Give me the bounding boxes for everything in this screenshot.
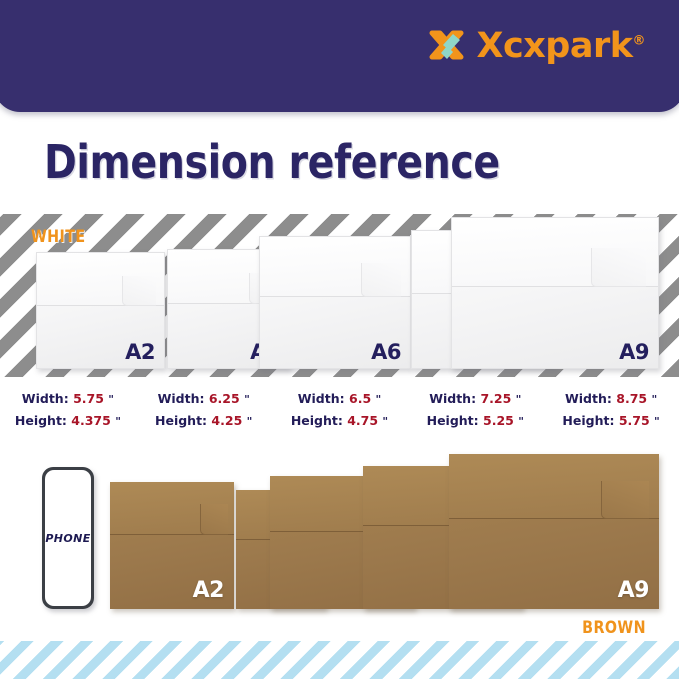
width-line: Width: 8.75 " <box>543 388 679 410</box>
width-label: Width: <box>22 391 69 406</box>
height-unit: " <box>382 415 388 428</box>
width-label: Width: <box>298 391 345 406</box>
phone-label: PHONE <box>45 532 90 545</box>
dimension-cell-a7: Width: 7.25 "Height: 5.25 " <box>407 388 543 432</box>
height-unit: " <box>654 415 660 428</box>
dimension-table: Width: 5.75 "Height: 4.375 "Width: 6.25 … <box>0 388 679 432</box>
height-value: 4.375 <box>71 413 111 428</box>
height-unit: " <box>115 415 121 428</box>
width-unit: " <box>376 393 382 406</box>
dimension-cell-a4: Width: 6.25 "Height: 4.25 " <box>136 388 272 432</box>
white-envelope-a9: A9 <box>451 217 659 369</box>
height-line: Height: 4.375 " <box>0 410 136 432</box>
envelope-size-label: A2 <box>125 340 155 364</box>
envelope-size-label: A6 <box>371 340 401 364</box>
width-unit: " <box>651 393 657 406</box>
width-label: Width: <box>429 391 476 406</box>
height-line: Height: 5.75 " <box>543 410 679 432</box>
width-unit: " <box>244 393 250 406</box>
envelope-flap <box>260 237 410 297</box>
width-line: Width: 6.5 " <box>272 388 408 410</box>
infographic-page: Xcxpark® Dimension reference WHITE A2A4A… <box>0 0 679 679</box>
white-envelope-row: A2A4A6A7A9 <box>0 214 679 377</box>
width-value: 7.25 <box>480 391 511 406</box>
envelope-size-label: A2 <box>193 578 224 603</box>
envelope-flap <box>110 482 234 535</box>
width-label: Width: <box>158 391 205 406</box>
header-banner: Xcxpark® <box>0 0 679 112</box>
height-label: Height: <box>15 413 67 428</box>
height-value: 5.25 <box>483 413 514 428</box>
envelope-flap <box>452 218 658 287</box>
envelope-size-label: A9 <box>619 340 649 364</box>
width-unit: " <box>516 393 522 406</box>
white-envelope-a2: A2 <box>36 252 165 369</box>
page-title: Dimension reference <box>44 139 500 185</box>
height-value: 5.75 <box>619 413 650 428</box>
envelope-flap <box>449 454 659 519</box>
height-line: Height: 4.75 " <box>272 410 408 432</box>
brand-name-text: Xcxpark <box>476 26 632 66</box>
x-mark-logo-icon <box>427 26 467 66</box>
height-label: Height: <box>427 413 479 428</box>
width-line: Width: 7.25 " <box>407 388 543 410</box>
brand-lockup: Xcxpark® <box>427 26 645 66</box>
width-value: 6.25 <box>209 391 240 406</box>
phone-reference: PHONE <box>42 467 94 609</box>
height-value: 4.25 <box>211 413 242 428</box>
width-unit: " <box>108 393 114 406</box>
dimension-cell-a2: Width: 5.75 "Height: 4.375 " <box>0 388 136 432</box>
height-line: Height: 5.25 " <box>407 410 543 432</box>
registered-trademark-icon: ® <box>633 33 646 48</box>
width-line: Width: 5.75 " <box>0 388 136 410</box>
envelope-size-label: A9 <box>618 578 649 603</box>
dimension-cell-a9: Width: 8.75 "Height: 5.75 " <box>543 388 679 432</box>
height-unit: " <box>247 415 253 428</box>
brown-envelope-a9: A9 <box>449 454 659 609</box>
white-envelope-a6: A6 <box>259 236 411 369</box>
phone-screen: PHONE <box>45 470 91 606</box>
brown-section-label: BROWN <box>582 618 646 638</box>
height-unit: " <box>518 415 524 428</box>
blue-stripe-band <box>0 641 679 679</box>
height-label: Height: <box>155 413 207 428</box>
dimension-cell-a6: Width: 6.5 "Height: 4.75 " <box>272 388 408 432</box>
width-line: Width: 6.25 " <box>136 388 272 410</box>
width-value: 6.5 <box>349 391 371 406</box>
brand-name: Xcxpark® <box>476 29 645 64</box>
height-label: Height: <box>562 413 614 428</box>
brown-envelope-a2: A2 <box>110 482 234 609</box>
envelope-flap <box>37 253 164 306</box>
width-value: 8.75 <box>616 391 647 406</box>
width-label: Width: <box>565 391 612 406</box>
brown-envelope-row: PHONE A2A4A6A7A9 <box>0 458 679 618</box>
height-label: Height: <box>291 413 343 428</box>
height-line: Height: 4.25 " <box>136 410 272 432</box>
height-value: 4.75 <box>347 413 378 428</box>
width-value: 5.75 <box>73 391 104 406</box>
